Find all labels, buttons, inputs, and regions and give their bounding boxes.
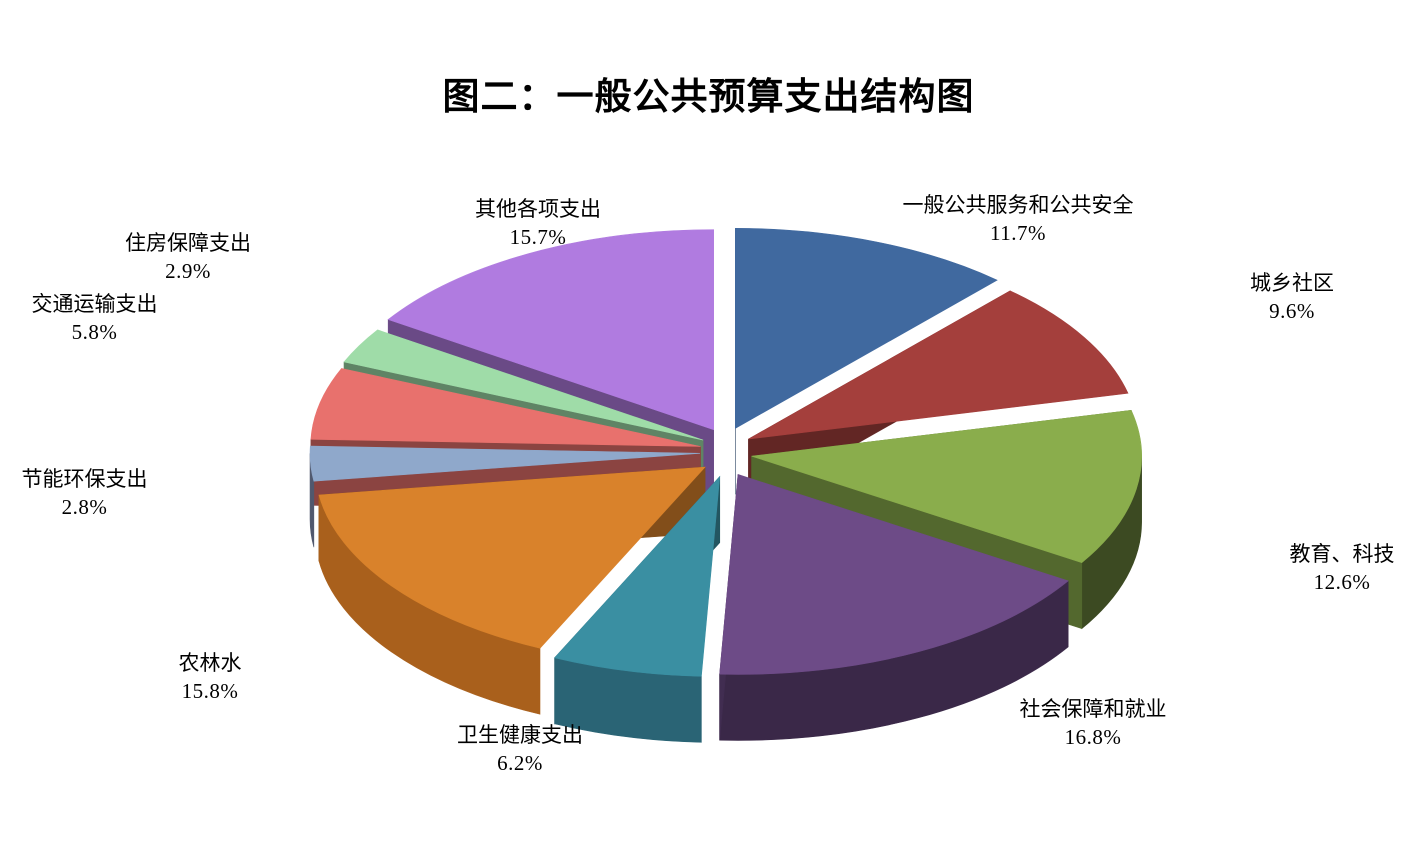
pie-chart-canvas xyxy=(0,0,1417,854)
pie-chart-figure: 图二：一般公共预算支出结构图 一般公共服务和公共安全 11.7% 城乡社区 9.… xyxy=(0,0,1417,854)
pie-slices-group xyxy=(310,228,1142,742)
